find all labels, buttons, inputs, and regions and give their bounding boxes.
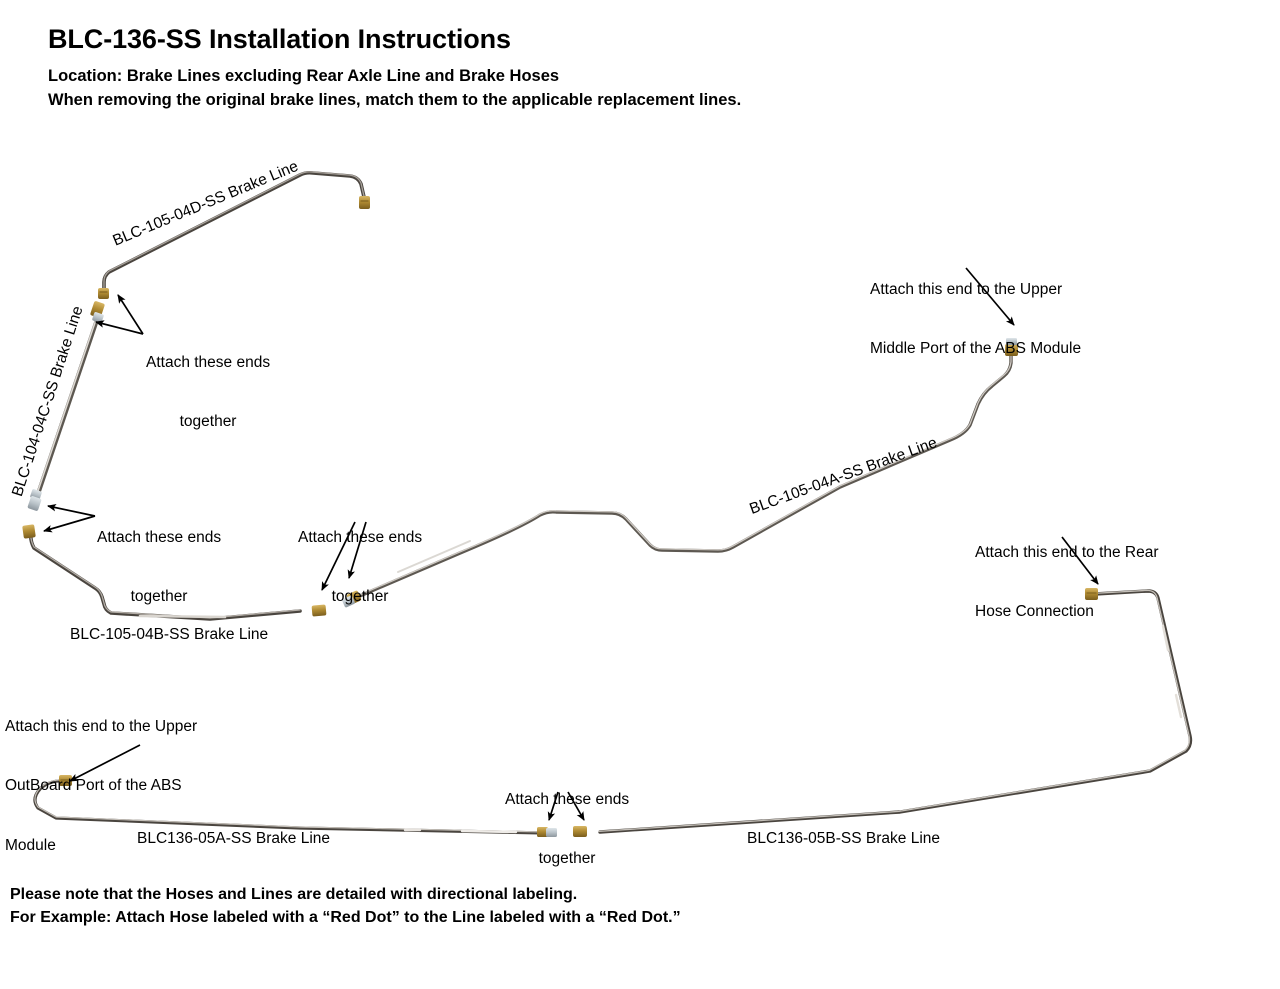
annotation-bottom-center-pair-line1: Attach these ends — [505, 790, 629, 810]
annotation-rear-hose-line2: Hose Connection — [975, 602, 1159, 622]
fitting-04C-top — [90, 301, 105, 324]
fitting-04C-bottom — [27, 489, 42, 512]
fitting-04D-right — [359, 196, 370, 209]
annotation-rear-hose-line1: Attach this end to the Rear — [975, 543, 1159, 563]
annotation-abs-upper-middle-line1: Attach this end to the Upper — [870, 280, 1081, 300]
annotation-abs-upper-outboard-line3: Module — [5, 836, 197, 856]
annotation-rear-hose: Attach this end to the Rear Hose Connect… — [975, 503, 1159, 662]
installation-instructions-page: BLC-136-SS Installation Instructions Loc… — [0, 0, 1280, 989]
footer-note-line2: For Example: Attach Hose labeled with a … — [10, 908, 681, 928]
annotation-abs-upper-outboard-line1: Attach this end to the Upper — [5, 717, 197, 737]
annotation-mid-center-pair-line1: Attach these ends — [298, 528, 422, 548]
annotation-top-pair-line1: Attach these ends — [146, 353, 270, 373]
annotation-mid-left-pair-line1: Attach these ends — [97, 528, 221, 548]
annotation-mid-left-pair-line2: together — [97, 587, 221, 607]
annotation-mid-left-pair: Attach these ends together — [97, 488, 221, 647]
annotation-mid-center-pair-line2: together — [298, 587, 422, 607]
annotation-top-pair-line2: together — [146, 412, 270, 432]
annotation-abs-upper-middle: Attach this end to the Upper Middle Port… — [870, 240, 1081, 399]
fitting-04D-left — [98, 288, 109, 299]
arrow-mid-left-a — [48, 506, 95, 516]
part-label-05B: BLC136-05B-SS Brake Line — [747, 829, 940, 849]
annotation-bottom-center-pair-line2: together — [505, 849, 629, 869]
fitting-04B-left — [22, 524, 36, 539]
annotation-mid-center-pair: Attach these ends together — [298, 488, 422, 647]
annotation-top-pair: Attach these ends together — [146, 313, 270, 472]
footer-note-line1: Please note that the Hoses and Lines are… — [10, 885, 577, 905]
annotation-abs-upper-middle-line2: Middle Port of the ABS Module — [870, 339, 1081, 359]
arrow-mid-left-b — [44, 516, 95, 531]
annotation-abs-upper-outboard: Attach this end to the Upper OutBoard Po… — [5, 677, 197, 895]
annotation-abs-upper-outboard-line2: OutBoard Port of the ABS — [5, 776, 197, 796]
